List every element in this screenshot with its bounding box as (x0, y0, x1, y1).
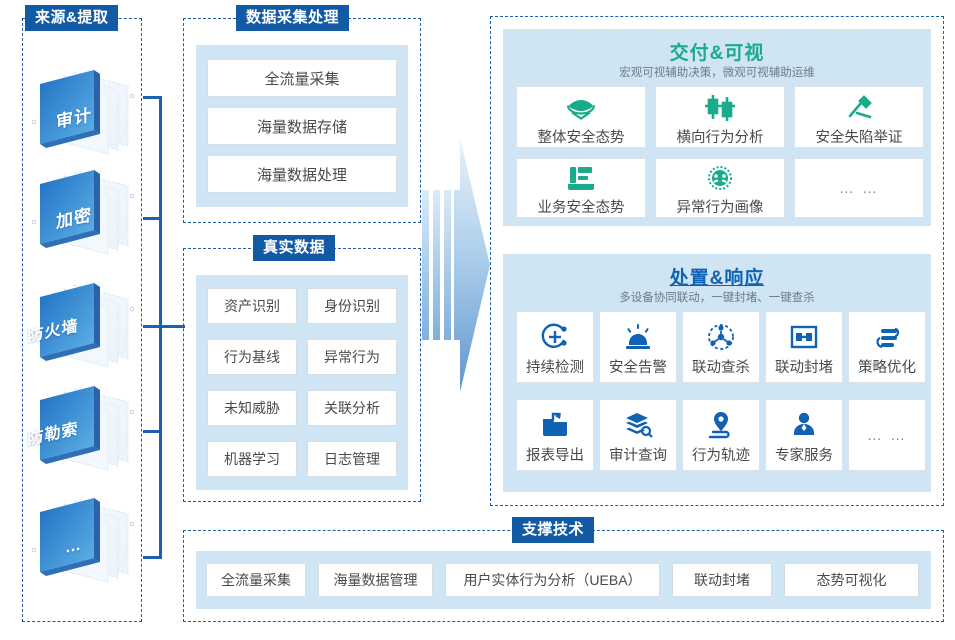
cube-icon (28, 62, 140, 172)
delivery-tile-label: 业务安全态势 (538, 196, 625, 217)
server-report-icon (566, 159, 596, 192)
response-tile-label: 联动查杀 (692, 356, 750, 377)
plus-orbit-icon (540, 318, 570, 352)
collect-panel-badge: 数据采集处理 (236, 5, 349, 31)
collect-item-0[interactable]: 全流量采集 (207, 59, 397, 97)
network-target-icon (706, 318, 736, 352)
realdata-item-5[interactable]: 关联分析 (307, 390, 397, 426)
realdata-item-4[interactable]: 未知威胁 (207, 390, 297, 426)
expert-user-icon (789, 406, 819, 440)
response-tile-1[interactable]: 安全告警 (599, 311, 677, 383)
policy-lines-icon (872, 318, 902, 352)
cube-icon (28, 378, 140, 488)
export-folder-icon (540, 406, 570, 440)
realdata-item-6[interactable]: 机器学习 (207, 441, 297, 477)
response-subtitle: 多设备协同联动，一键封堵、一键查杀 (503, 289, 931, 305)
realdata-item-1[interactable]: 身份识别 (307, 288, 397, 324)
realdata-item-0[interactable]: 资产识别 (207, 288, 297, 324)
response-tile-9[interactable]: … … (848, 399, 926, 471)
delivery-tile-1[interactable]: 横向行为分析 (655, 86, 785, 148)
response-tile-label: 持续检测 (526, 356, 584, 377)
response-tile-5[interactable]: 报表导出 (516, 399, 594, 471)
support-item-1[interactable]: 海量数据管理 (318, 563, 433, 597)
connector-branch-1 (143, 217, 162, 220)
delivery-subtitle: 宏观可视辅助决策，微观可视辅助运维 (503, 64, 931, 80)
realdata-item-3[interactable]: 异常行为 (307, 339, 397, 375)
delivery-tile-4[interactable]: 异常行为画像 (655, 158, 785, 218)
ellipsis-icon: … … (867, 427, 907, 444)
response-tile-label: 联动封堵 (775, 356, 833, 377)
connector-out (159, 325, 185, 328)
delivery-tile-2[interactable]: 安全失陷举证 (794, 86, 924, 148)
location-pin-icon (706, 406, 736, 440)
source-item-1[interactable]: 加密 (28, 162, 140, 272)
response-tile-2[interactable]: 联动查杀 (682, 311, 760, 383)
cube-icon (28, 162, 140, 272)
block-grid-icon (789, 318, 819, 352)
siren-icon (623, 318, 653, 352)
cube-icon (28, 275, 140, 385)
delivery-tile-label: 横向行为分析 (677, 126, 764, 147)
boxplot-icon (704, 88, 736, 122)
collect-item-1[interactable]: 海量数据存储 (207, 107, 397, 145)
response-title: 处置&响应 (503, 263, 931, 290)
response-tile-label: 报表导出 (526, 444, 584, 465)
realdata-item-2[interactable]: 行为基线 (207, 339, 297, 375)
response-tile-label: 行为轨迹 (692, 444, 750, 465)
response-tile-label: 策略优化 (858, 356, 916, 377)
support-item-3[interactable]: 联动封堵 (672, 563, 772, 597)
connector-branch-4 (143, 556, 162, 559)
response-tile-6[interactable]: 审计查询 (599, 399, 677, 471)
response-tile-3[interactable]: 联动封堵 (765, 311, 843, 383)
response-tile-8[interactable]: 专家服务 (765, 399, 843, 471)
source-panel-badge: 来源&提取 (25, 5, 118, 31)
source-item-4[interactable]: … (28, 490, 140, 600)
delivery-tile-5[interactable]: … … (794, 158, 924, 218)
delivery-tile-label: 异常行为画像 (677, 196, 764, 217)
support-panel-badge: 支撑技术 (512, 517, 594, 543)
support-item-2[interactable]: 用户实体行为分析（UEBA） (445, 563, 660, 597)
delivery-tile-label: 整体安全态势 (538, 126, 625, 147)
ellipsis-icon: … … (839, 180, 879, 197)
response-tile-label: 审计查询 (609, 444, 667, 465)
shield-dome-icon (566, 88, 596, 122)
support-item-0[interactable]: 全流量采集 (206, 563, 306, 597)
source-item-3[interactable]: 防勒索 (28, 378, 140, 488)
gavel-icon (844, 88, 874, 122)
response-tile-label: 安全告警 (609, 356, 667, 377)
delivery-tile-0[interactable]: 整体安全态势 (516, 86, 646, 148)
people-circle-icon (705, 159, 735, 192)
realdata-panel-badge: 真实数据 (253, 235, 335, 261)
layers-search-icon (623, 406, 653, 440)
delivery-tile-3[interactable]: 业务安全态势 (516, 158, 646, 218)
response-tile-7[interactable]: 行为轨迹 (682, 399, 760, 471)
connector-branch-0 (143, 96, 162, 99)
delivery-tile-label: 安全失陷举证 (816, 126, 903, 147)
support-item-4[interactable]: 态势可视化 (784, 563, 919, 597)
delivery-title: 交付&可视 (503, 38, 931, 65)
response-tile-4[interactable]: 策略优化 (848, 311, 926, 383)
response-tile-label: 专家服务 (775, 444, 833, 465)
connector-branch-3 (143, 430, 162, 433)
response-tile-0[interactable]: 持续检测 (516, 311, 594, 383)
realdata-item-7[interactable]: 日志管理 (307, 441, 397, 477)
collect-item-2[interactable]: 海量数据处理 (207, 155, 397, 193)
source-item-0[interactable]: 审计 (28, 62, 140, 172)
source-item-2[interactable]: 防火墙 (28, 275, 140, 385)
cube-icon (28, 490, 140, 600)
